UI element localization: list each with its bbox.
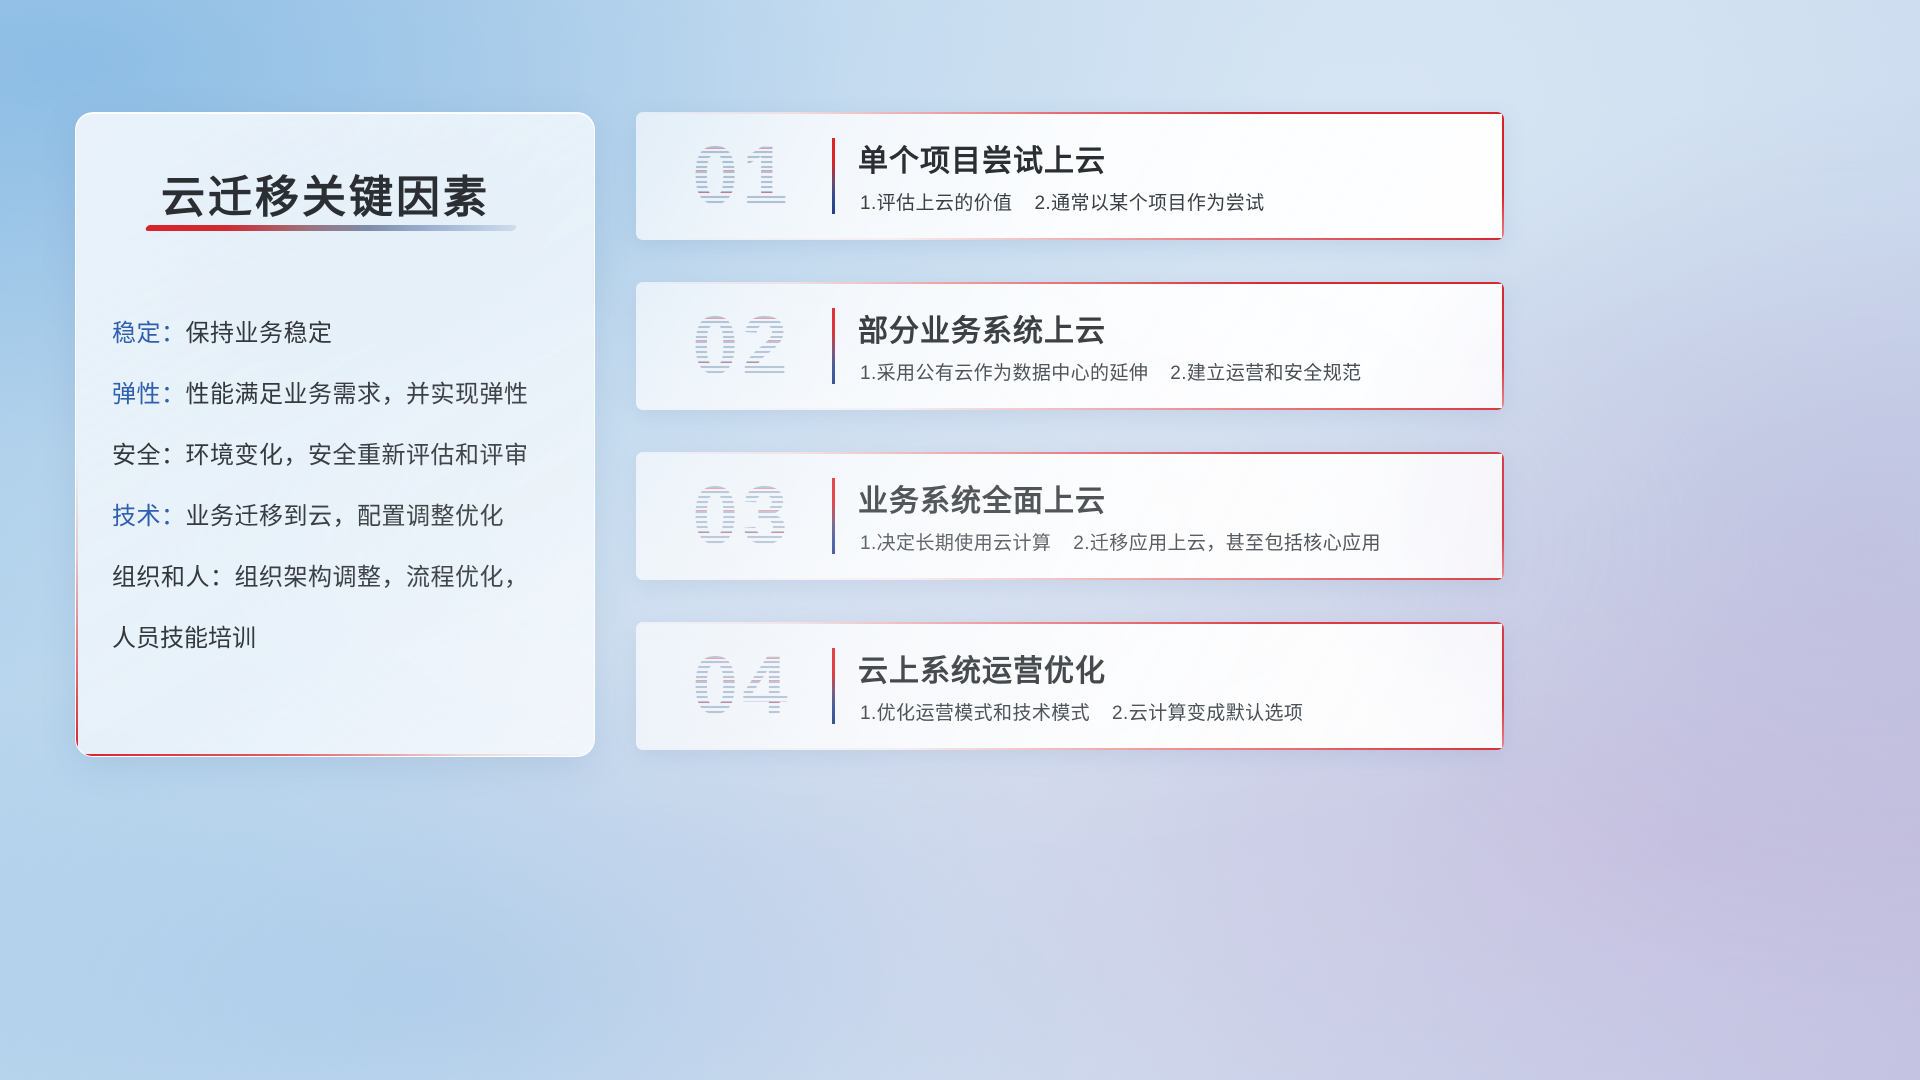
slide-canvas: 云迁移关键因素 稳定：保持业务稳定 弹性：性能满足业务需求，并实现弹性 安全：环… <box>0 0 1920 1080</box>
step-title: 单个项目尝试上云 <box>858 136 1106 180</box>
card-bottom-accent <box>636 578 1504 580</box>
list-item-label: 技术： <box>112 503 186 530</box>
step-card-03[interactable]: 03 03 业务系统全面上云 1.决定长期使用云计算2.迁移应用上云，甚至包括核… <box>636 452 1504 580</box>
card-bottom-accent <box>636 238 1504 240</box>
card-bottom-accent <box>636 408 1504 410</box>
list-item-value: 组织架构调整，流程优化， <box>235 564 529 591</box>
step-desc-part-2: 2.通常以某个项目作为尝试 <box>1034 193 1264 214</box>
step-desc-part-1: 1.优化运营模式和技术模式 <box>860 703 1090 724</box>
step-accent-bar <box>832 478 835 554</box>
key-factors-list: 稳定：保持业务稳定 弹性：性能满足业务需求，并实现弹性 安全：环境变化，安全重新… <box>112 303 582 669</box>
step-desc-part-2: 2.云计算变成默认选项 <box>1112 703 1303 724</box>
list-item-label: 安全： <box>112 442 186 469</box>
list-item: 组织和人：组织架构调整，流程优化， <box>112 547 582 608</box>
step-number: 02 <box>662 296 822 396</box>
key-factors-card: 云迁移关键因素 稳定：保持业务稳定 弹性：性能满足业务需求，并实现弹性 安全：环… <box>75 112 595 757</box>
step-description: 1.评估上云的价值2.通常以某个项目作为尝试 <box>860 188 1265 215</box>
step-title: 云上系统运营优化 <box>858 646 1106 690</box>
step-description: 1.采用公有云作为数据中心的延伸2.建立运营和安全规范 <box>860 358 1362 385</box>
list-item: 安全：环境变化，安全重新评估和评审 <box>112 425 582 486</box>
step-description: 1.决定长期使用云计算2.迁移应用上云，甚至包括核心应用 <box>860 528 1381 555</box>
step-card-01[interactable]: 01 01 单个项目尝试上云 1.评估上云的价值2.通常以某个项目作为尝试 <box>636 112 1504 240</box>
step-desc-part-1: 1.评估上云的价值 <box>860 193 1012 214</box>
card-bottom-accent <box>636 748 1504 750</box>
title-underline-gradient <box>145 225 517 231</box>
list-item-value: 保持业务稳定 <box>186 320 333 347</box>
step-desc-part-1: 1.决定长期使用云计算 <box>860 533 1051 554</box>
list-item-value: 性能满足业务需求，并实现弹性 <box>186 381 529 408</box>
step-desc-part-2: 2.迁移应用上云，甚至包括核心应用 <box>1073 533 1381 554</box>
step-desc-part-1: 1.采用公有云作为数据中心的延伸 <box>860 363 1148 384</box>
step-number: 04 <box>662 636 822 736</box>
list-item-label: 弹性： <box>112 381 186 408</box>
step-number: 03 <box>662 466 822 566</box>
page-title: 云迁移关键因素 <box>161 161 490 225</box>
step-title: 部分业务系统上云 <box>858 306 1106 350</box>
list-item: 稳定：保持业务稳定 <box>112 303 582 364</box>
list-item-value: 环境变化，安全重新评估和评审 <box>186 442 529 469</box>
step-card-04[interactable]: 04 04 云上系统运营优化 1.优化运营模式和技术模式2.云计算变成默认选项 <box>636 622 1504 750</box>
list-item-label: 组织和人： <box>112 564 235 591</box>
list-item: 技术：业务迁移到云，配置调整优化 <box>112 486 582 547</box>
steps-list: 01 01 单个项目尝试上云 1.评估上云的价值2.通常以某个项目作为尝试 02… <box>636 112 1504 792</box>
step-desc-part-2: 2.建立运营和安全规范 <box>1170 363 1361 384</box>
list-item-continuation: 人员技能培训 <box>112 608 582 669</box>
card-left-accent <box>76 456 78 756</box>
step-description: 1.优化运营模式和技术模式2.云计算变成默认选项 <box>860 698 1303 725</box>
list-item: 弹性：性能满足业务需求，并实现弹性 <box>112 364 582 425</box>
step-title: 业务系统全面上云 <box>858 476 1106 520</box>
step-accent-bar <box>832 138 835 214</box>
step-accent-bar <box>832 648 835 724</box>
list-item-value: 业务迁移到云，配置调整优化 <box>186 503 505 530</box>
step-card-02[interactable]: 02 02 部分业务系统上云 1.采用公有云作为数据中心的延伸2.建立运营和安全… <box>636 282 1504 410</box>
card-bottom-accent <box>76 754 594 756</box>
step-accent-bar <box>832 308 835 384</box>
list-item-label: 稳定： <box>112 320 186 347</box>
step-number: 01 <box>662 126 822 226</box>
